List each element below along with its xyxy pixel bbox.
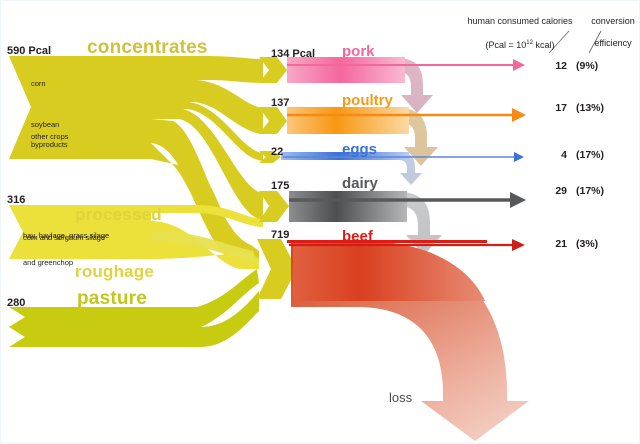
node-total-poultry: 137 <box>271 97 289 109</box>
source-total-processed-roughage: 316 <box>7 194 25 206</box>
product-bar-beef <box>293 241 485 301</box>
header-consumed-line2: (Pcal = 1012 kcal) <box>486 40 555 50</box>
header-consumed-line1: human consumed calories <box>467 16 572 26</box>
efficiency-value-dairy: (17%) <box>576 185 624 197</box>
node-total-pork: 134 Pcal <box>271 48 315 60</box>
loss-label: loss <box>389 390 412 405</box>
product-bar-pork <box>287 57 405 83</box>
node-total-eggs: 22 <box>271 146 283 158</box>
consumed-value-poultry: 17 <box>537 102 567 114</box>
efficiency-value-poultry: (13%) <box>576 102 624 114</box>
header-exponent: 12 <box>526 40 533 46</box>
node-total-dairy: 175 <box>271 180 289 192</box>
source-sublabel-hay-line2: and greenchop <box>23 258 109 267</box>
header-eff-line1: conversion <box>591 16 635 26</box>
source-sublabel-byproducts: byproducts <box>31 140 68 149</box>
source-title-concentrates: concentrates <box>87 37 208 59</box>
source-sublabel-corn-sorghum-silage: corn and sorghum silage <box>23 233 105 242</box>
node-chevron-poultry <box>259 107 287 134</box>
product-bar-beef-top <box>287 240 487 243</box>
consumed-value-dairy: 29 <box>537 185 567 197</box>
efficiency-value-beef: (3%) <box>576 238 624 250</box>
source-total-concentrates: 590 Pcal <box>7 45 51 57</box>
node-chevron-pork <box>259 57 287 83</box>
product-bar-poultry <box>287 107 409 134</box>
header-eff-line2: efficiency <box>594 38 631 48</box>
efficiency-value-eggs: (17%) <box>576 149 624 161</box>
product-label-eggs: eggs <box>342 141 377 158</box>
product-label-dairy: dairy <box>342 175 378 192</box>
consumed-value-beef: 21 <box>537 238 567 250</box>
node-total-beef: 719 <box>271 229 289 241</box>
efficiency-value-pork: (9%) <box>576 60 624 72</box>
consumed-value-eggs: 4 <box>537 149 567 161</box>
source-sublabel-corn: corn <box>31 79 46 88</box>
header-consumed-calories: human consumed calories (Pcal = 1012 kca… <box>447 5 583 62</box>
product-label-poultry: poultry <box>342 92 393 109</box>
source-sublabel-soybean: soybean <box>31 120 59 129</box>
source-title-pasture: pasture <box>77 288 147 310</box>
source-sublabel-hay: hay, haylage, grass silage and greenchop <box>23 213 109 285</box>
node-chevron-dairy <box>259 191 289 222</box>
source-total-pasture: 280 <box>7 297 25 309</box>
header-conversion-efficiency: conversion efficiency <box>579 5 637 60</box>
consumed-value-pork: 12 <box>537 60 567 72</box>
product-label-pork: pork <box>342 43 375 60</box>
sankey-figure: human consumed calories (Pcal = 1012 kca… <box>0 0 640 444</box>
product-label-beef: beef <box>342 228 373 245</box>
product-bar-dairy <box>289 191 407 222</box>
